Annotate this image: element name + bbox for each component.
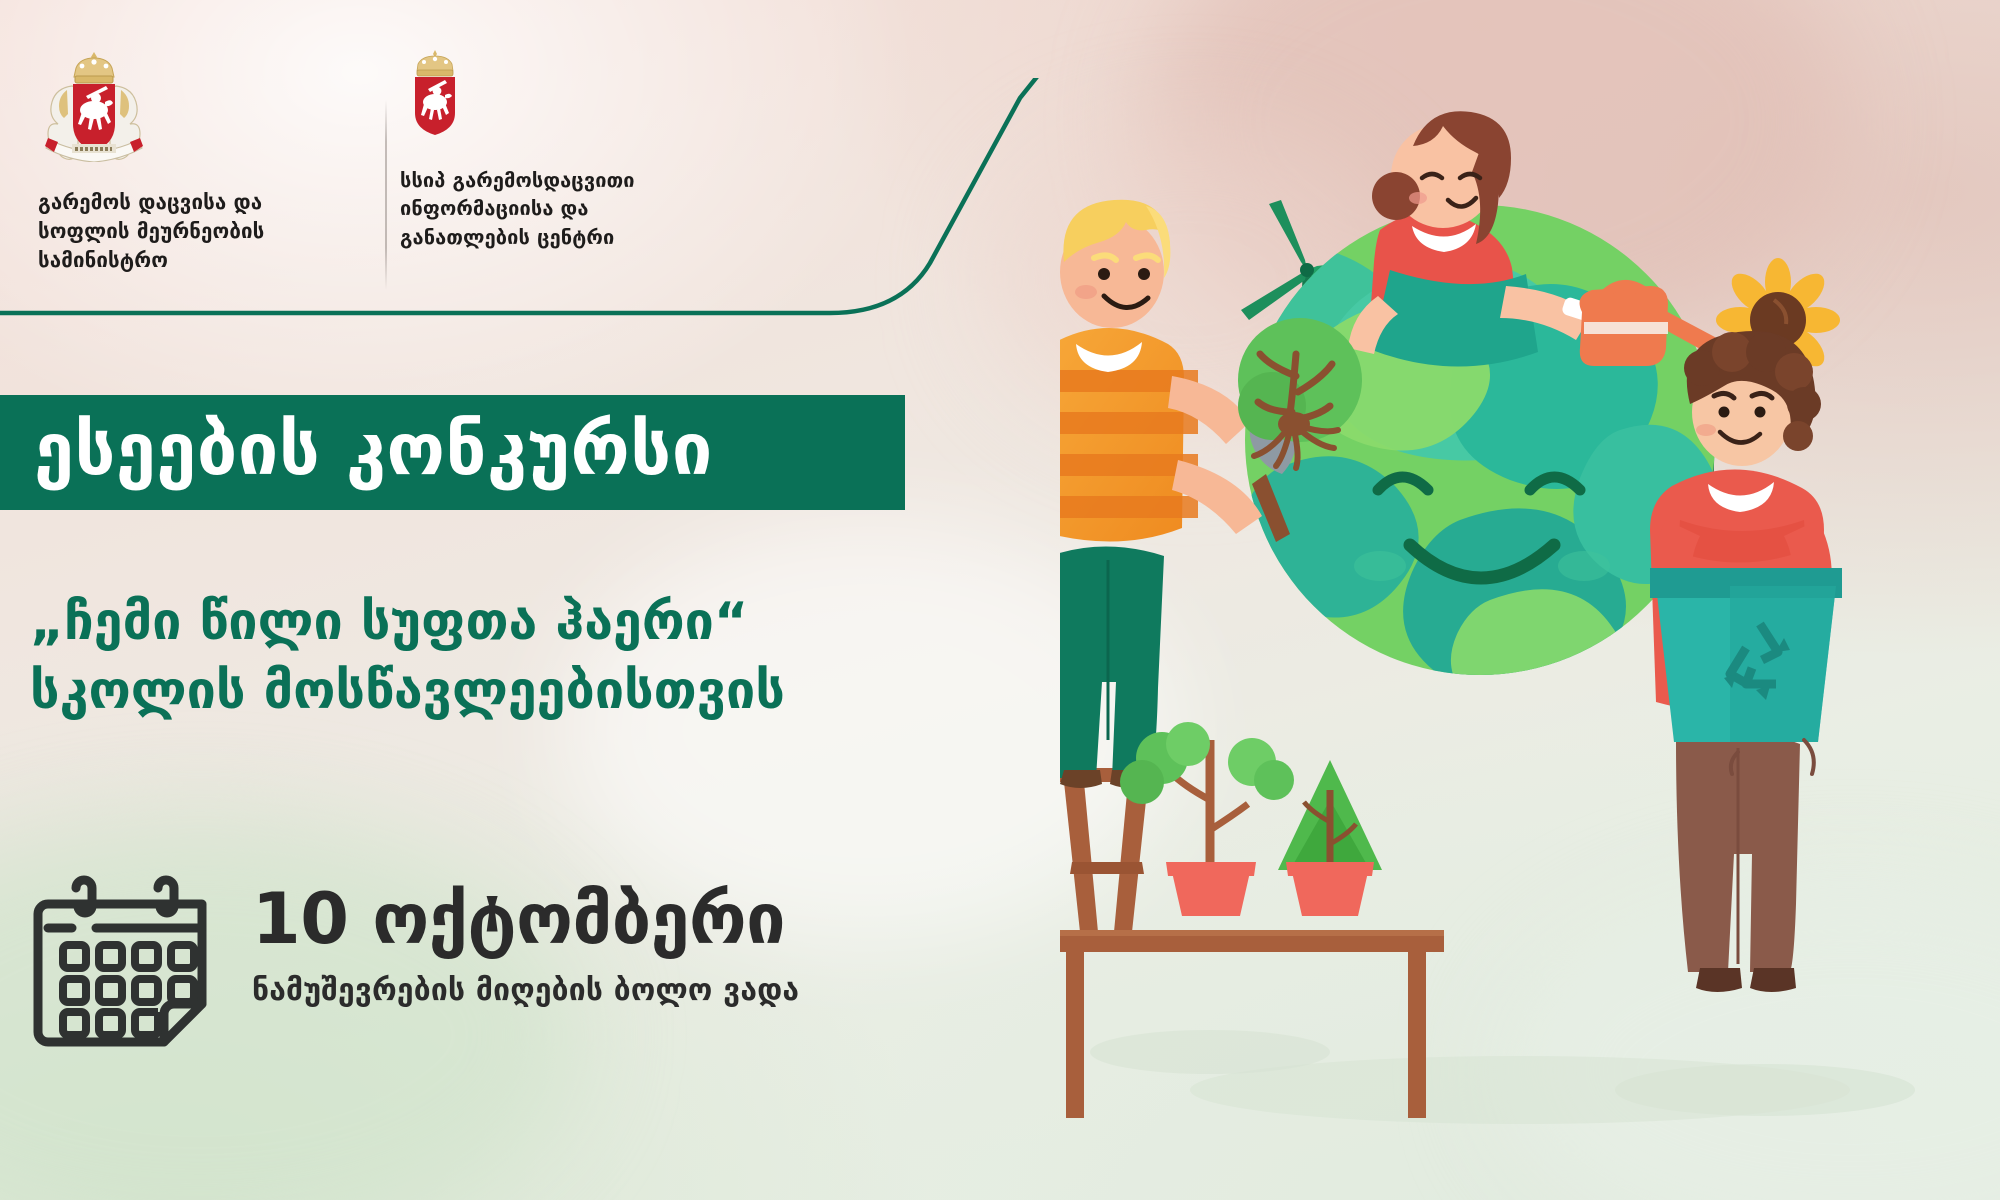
boy-planting-tree <box>1060 200 1262 932</box>
header: გარემოს დაცვისა და სოფლის მეურნეობის სამ… <box>0 0 1000 300</box>
logo-row: გარემოს დაცვისა და სოფლის მეურნეობის სამ… <box>30 48 650 275</box>
page-title: ესეების კონკურსი <box>0 413 713 493</box>
ministry-logo-block: გარემოს დაცვისა და სოფლის მეურნეობის სამ… <box>30 48 360 275</box>
georgia-small-coat-of-arms-icon <box>404 48 466 136</box>
deadline-date: 10 ოქტომბერი <box>252 884 799 954</box>
calendar-icon <box>26 862 224 1062</box>
title-banner: ესეების კონკურსი <box>0 395 905 510</box>
deadline-block: 10 ოქტომბერი ნამუშევრების მიღების ბოლო ვ… <box>26 862 799 1062</box>
subtitle-block: „ჩემი წილი სუფთა ჰაერი“ სკოლის მოსწავლეე… <box>30 588 970 725</box>
potted-tree-1 <box>1120 722 1294 916</box>
center-logo-block: სსიპ გარემოსდაცვითი ინფორმაციისა და განა… <box>360 48 650 251</box>
deadline-texts: 10 ოქტომბერი ნამუშევრების მიღების ბოლო ვ… <box>252 862 799 1006</box>
ministry-name: გარემოს დაცვისა და სოფლის მეურნეობის სამ… <box>38 188 360 275</box>
poster-canvas: გარემოს დაცვისა და სოფლის მეურნეობის სამ… <box>0 0 2000 1200</box>
recycling-bin <box>1650 568 1842 742</box>
children-planting-earth-illustration <box>1060 0 2000 1200</box>
deadline-caption: ნამუშევრების მიღების ბოლო ვადა <box>252 976 799 1006</box>
georgia-coat-of-arms-icon <box>42 48 146 162</box>
center-name: სსიპ გარემოსდაცვითი ინფორმაციისა და განა… <box>400 166 650 251</box>
subtitle-line-2: სკოლის მოსწავლეებისთვის <box>30 657 970 726</box>
subtitle-line-1: „ჩემი წილი სუფთა ჰაერი“ <box>30 588 970 657</box>
